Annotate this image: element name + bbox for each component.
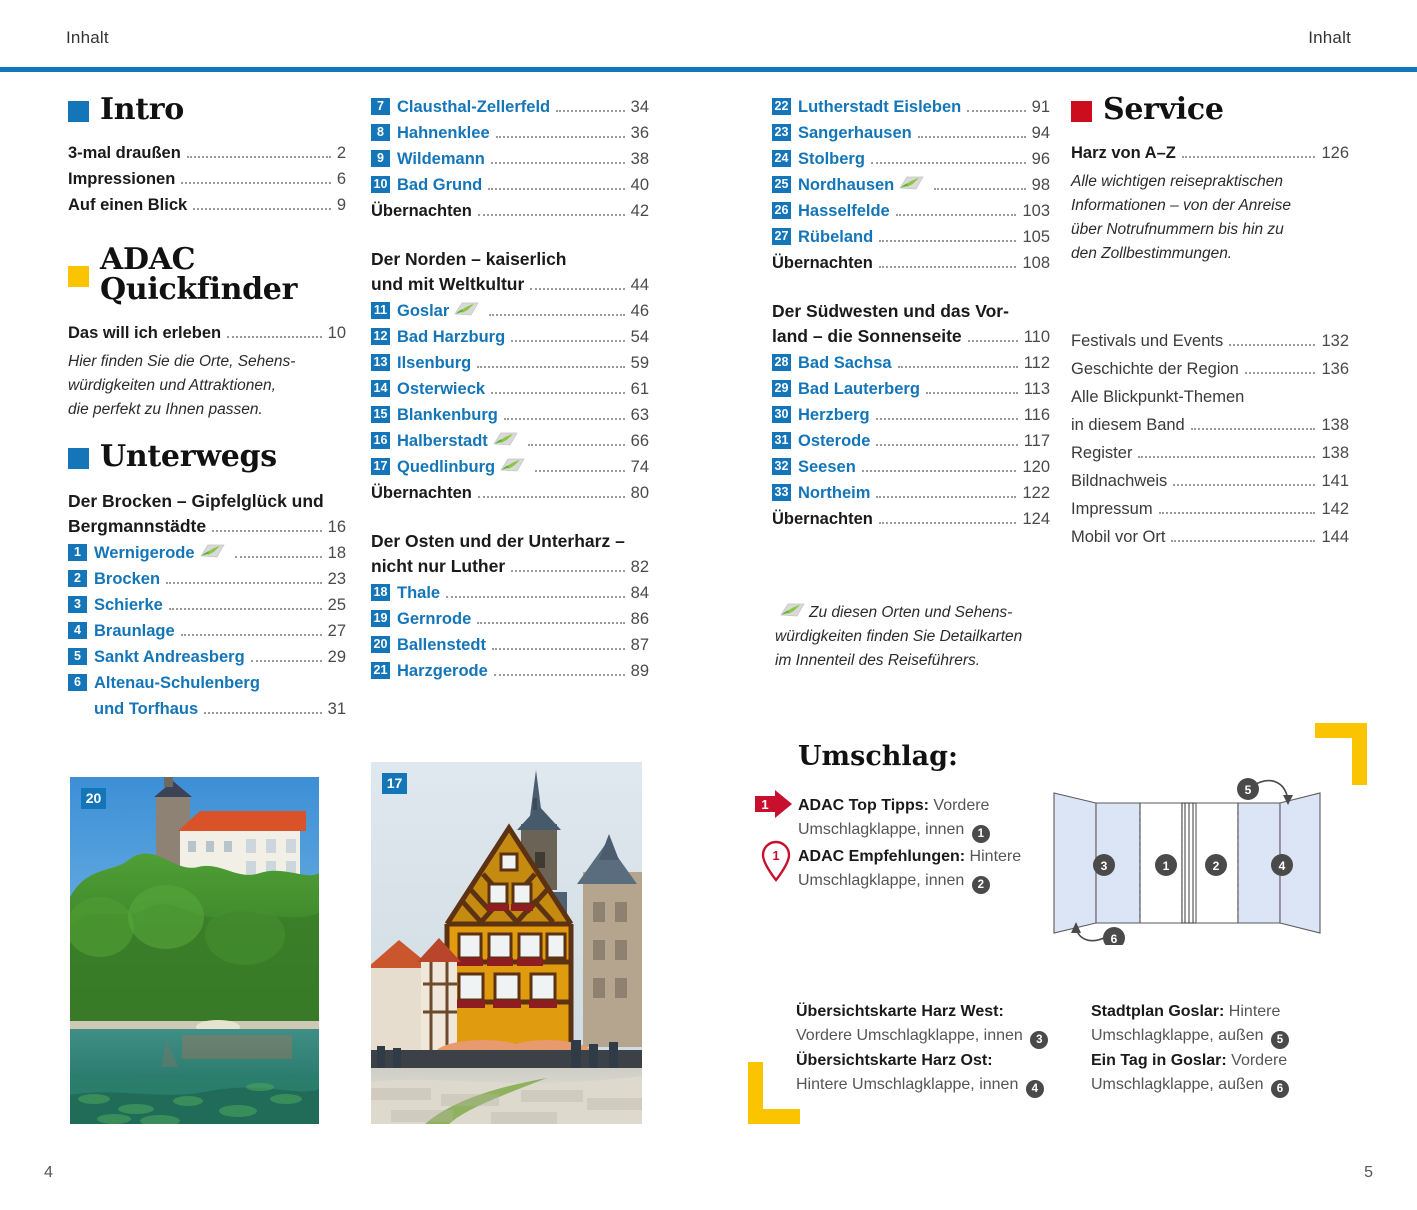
toc-page: 82	[631, 555, 649, 580]
toc-entry-place[interactable]: 4Braunlage27	[68, 619, 346, 644]
toc-label: Northeim	[798, 481, 870, 506]
place-number-badge: 2	[68, 570, 87, 587]
toc-entry-place[interactable]: 17Quedlinburg74	[371, 455, 649, 480]
photo-ballenstedt-image	[70, 777, 319, 1124]
leader-dots	[896, 214, 1017, 216]
leader-dots	[187, 156, 331, 158]
red-arrow-marker-number: 1	[761, 797, 768, 812]
toc-entry-place[interactable]: 13Ilsenburg59	[371, 351, 649, 376]
umschlag-bottom-notes-left: Übersichtskarte Harz West: Vordere Umsch…	[796, 1000, 1056, 1098]
toc-page: 23	[328, 567, 346, 592]
toc-entry-place[interactable]: 7Clausthal-Zellerfeld34	[371, 95, 649, 120]
red-pin-marker-number: 1	[772, 848, 779, 863]
note-rest: Hintere	[1224, 1003, 1280, 1020]
toc-label: Ballenstedt	[397, 633, 486, 658]
leader-dots	[1138, 456, 1315, 458]
leader-dots	[227, 336, 322, 338]
toc-label: Harzgerode	[397, 659, 488, 684]
map-leaf-icon	[779, 602, 805, 619]
toc-entry-place[interactable]: 14Osterwieck61	[371, 377, 649, 402]
note-circle: 6	[1271, 1080, 1289, 1098]
leader-dots	[967, 110, 1025, 112]
toc-page: 120	[1022, 455, 1050, 480]
toc-page: 46	[631, 299, 649, 324]
leader-dots	[871, 162, 1026, 164]
umschlag-section: Umschlag: ADAC Top Tipps: Vordere Umschl…	[798, 741, 1058, 896]
toc-page: 18	[328, 541, 346, 566]
toc-entry-place[interactable]: 2Brocken23	[68, 567, 346, 592]
toc-page: 9	[337, 193, 346, 218]
place-number-badge: 25	[772, 176, 791, 193]
leader-dots	[918, 136, 1026, 138]
leader-dots	[193, 208, 331, 210]
toc-label: Bad Grund	[397, 173, 482, 198]
leader-dots	[898, 366, 1018, 368]
section-title-service-label: Service	[1103, 95, 1224, 125]
toc-page: 29	[328, 645, 346, 670]
note-line2: Hintere Umschlagklappe, innen	[796, 1076, 1018, 1093]
toc-label: Altenau-Schulenberg	[94, 671, 260, 696]
leader-dots	[251, 660, 322, 662]
photo-badge: 20	[81, 788, 106, 809]
toc-entry[interactable]: Das will ich erleben 10	[68, 321, 346, 346]
toc-label: Übernachten	[371, 199, 472, 224]
toc-page: 103	[1022, 199, 1050, 224]
leader-dots	[169, 608, 322, 610]
toc-page: 116	[1024, 403, 1050, 428]
note-stadtplan-goslar: Stadtplan Goslar: Hintere Umschlagklappe…	[1091, 1000, 1351, 1049]
leader-dots	[235, 556, 322, 558]
leader-dots	[876, 496, 1016, 498]
toc-label: Seesen	[798, 455, 856, 480]
leader-dots	[876, 418, 1018, 420]
leader-dots	[879, 522, 1017, 524]
toc-label: Quedlinburg	[397, 455, 495, 480]
leader-dots	[478, 214, 625, 216]
toc-entry-place[interactable]: 8Hahnenklee36	[371, 121, 649, 146]
toc-label: Blankenburg	[397, 403, 498, 428]
toc-page: 59	[631, 351, 649, 376]
toc-label: Sangerhausen	[798, 121, 912, 146]
group-heading-brocken: Der Brocken – Gipfelglück und	[68, 488, 346, 514]
place-number-badge: 19	[371, 610, 390, 627]
toc-label: nicht nur Luther	[371, 554, 505, 579]
leader-dots	[862, 470, 1017, 472]
toc-entry-place[interactable]: 23Sangerhausen94	[772, 121, 1050, 146]
toc-page: 40	[631, 173, 649, 198]
toc-page: 16	[328, 515, 346, 540]
leader-dots	[968, 340, 1018, 342]
toc-page: 66	[631, 429, 649, 454]
toc-entry-place[interactable]: 22Lutherstadt Eisleben91	[772, 95, 1050, 120]
place-number-badge: 1	[68, 544, 87, 561]
booklet-arrow-badge-6: 6	[1111, 932, 1118, 945]
toc-entry-uebernachten[interactable]: Übernachten 124	[772, 507, 1050, 532]
leader-dots	[511, 340, 624, 342]
leader-dots	[204, 712, 321, 714]
detail-map-note: Zu diesen Orten und Sehens-würdigkeiten …	[775, 600, 1025, 673]
umschlag-row-rest: Hintere	[965, 848, 1021, 865]
toc-page: 122	[1022, 481, 1050, 506]
toc-entry-place-cont[interactable]: und Torfhaus31	[68, 697, 346, 722]
group-heading-norden-line2[interactable]: und mit Weltkultur 44	[371, 272, 649, 298]
toc-page: 112	[1024, 351, 1050, 376]
place-number-badge: 29	[772, 380, 791, 397]
toc-entry[interactable]: Harz von A–Z 126	[1071, 141, 1349, 166]
place-number-badge: 26	[772, 202, 791, 219]
toc-label: 3-mal draußen	[68, 141, 181, 166]
toc-page: 113	[1024, 377, 1050, 402]
section-title-unterwegs-label: Unterwegs	[100, 442, 277, 472]
note-circle: 5	[1271, 1031, 1289, 1049]
photo-quedlinburg: 17	[371, 762, 642, 1124]
leader-dots	[496, 136, 625, 138]
umschlag-row-circle: 2	[972, 876, 990, 894]
toc-entry-place[interactable]: 26Hasselfelde103	[772, 199, 1050, 224]
place-number-badge: 7	[371, 98, 390, 115]
toc-label: und Torfhaus	[94, 697, 198, 722]
toc-entry-place[interactable]: 16Halberstadt66	[371, 429, 649, 454]
place-number-badge: 28	[772, 354, 791, 371]
toc-entry-place[interactable]: 20Ballenstedt87	[371, 633, 649, 658]
booklet-arrow-badge-5: 5	[1245, 783, 1252, 797]
toc-column-3: 22Lutherstadt Eisleben9123Sangerhausen94…	[772, 95, 1050, 533]
toc-label: Gernrode	[397, 607, 471, 632]
toc-entry-service-cont[interactable]: in diesem Band138	[1071, 412, 1349, 439]
place-number-badge: 9	[371, 150, 390, 167]
leader-dots	[492, 648, 625, 650]
umschlag-row-line2: Umschlagklappe, innen	[798, 872, 964, 889]
toc-page: 86	[631, 607, 649, 632]
photo-ballenstedt: 20	[70, 777, 319, 1124]
toc-page: 36	[631, 121, 649, 146]
leader-dots	[511, 570, 624, 572]
leader-dots	[477, 622, 624, 624]
group-heading-norden-line1: Der Norden – kaiserlich	[371, 246, 649, 272]
booklet-panel-badge-2: 2	[1213, 859, 1220, 873]
toc-entry[interactable]: 3-mal draußen 2	[68, 141, 346, 166]
place-number-badge: 22	[772, 98, 791, 115]
note-circle: 3	[1030, 1031, 1048, 1049]
place-list-osten: 18Thale8419Gernrode8620Ballenstedt8721Ha…	[371, 581, 649, 684]
map-leaf-icon	[199, 543, 225, 560]
place-number-badge: 6	[68, 674, 87, 691]
toc-entry-uebernachten[interactable]: Übernachten 80	[371, 481, 649, 506]
umschlag-row-top-tipps: ADAC Top Tipps: Vordere Umschlagklappe, …	[798, 794, 1058, 843]
toc-label: Goslar	[397, 299, 449, 324]
toc-entry-place[interactable]: 28Bad Sachsa112	[772, 351, 1050, 376]
toc-entry-service[interactable]: Festivals und Events132	[1071, 328, 1349, 355]
service-note: Alle wichtigen reisepraktischenInformati…	[1071, 170, 1349, 266]
toc-entry-place[interactable]: 10Bad Grund40	[371, 173, 649, 198]
toc-page: 80	[631, 481, 649, 506]
toc-label: Impressionen	[68, 167, 175, 192]
toc-page: 61	[631, 377, 649, 402]
toc-label: Das will ich erleben	[68, 321, 221, 346]
leader-dots	[556, 110, 625, 112]
leader-dots	[477, 366, 624, 368]
toc-label: land – die Sonnenseite	[772, 324, 962, 349]
group-heading-brocken-line2[interactable]: Bergmannstädte 16	[68, 514, 346, 540]
note-uebersichtskarte-ost: Übersichtskarte Harz Ost: Hintere Umschl…	[796, 1049, 1056, 1098]
toc-page: 27	[328, 619, 346, 644]
toc-entry-place[interactable]: 11Goslar46	[371, 299, 649, 324]
toc-entry-place[interactable]: 21Harzgerode89	[371, 659, 649, 684]
map-leaf-icon	[499, 457, 525, 474]
toc-entry-place[interactable]: 24Stolberg96	[772, 147, 1050, 172]
umschlag-row-circle: 1	[972, 825, 990, 843]
photo-badge: 17	[382, 773, 407, 794]
toc-page: 144	[1321, 524, 1349, 551]
toc-page: 124	[1022, 507, 1050, 532]
place-number-badge: 5	[68, 648, 87, 665]
toc-entry[interactable]: Auf einen Blick 9	[68, 193, 346, 218]
place-list-brocken: 1Wernigerode182Brocken233Schierke254Brau…	[68, 541, 346, 722]
detail-map-note-text: Zu diesen Orten und Sehens-würdigkeiten …	[775, 604, 1022, 669]
toc-label: Bildnachweis	[1071, 468, 1167, 495]
toc-label: Nordhausen	[798, 173, 894, 198]
booklet-panel-badge-3: 3	[1101, 859, 1108, 873]
leader-dots	[876, 444, 1017, 446]
umschlag-row-line2: Umschlagklappe, innen	[798, 821, 964, 838]
toc-page: 105	[1022, 225, 1050, 250]
toc-entry-service[interactable]: Alle Blickpunkt-Themen	[1071, 384, 1349, 411]
toc-label: Lutherstadt Eisleben	[798, 95, 961, 120]
place-number-badge: 14	[371, 380, 390, 397]
toc-column-1: Intro 3-mal draußen 2 Impressionen 6 Auf…	[68, 95, 346, 723]
toc-label: Wernigerode	[94, 541, 195, 566]
umschlag-row-empfehlungen: ADAC Empfehlungen: Hintere Umschlagklapp…	[798, 845, 1058, 894]
toc-page: 136	[1321, 356, 1349, 383]
toc-page: 89	[631, 659, 649, 684]
toc-page: 84	[631, 581, 649, 606]
toc-label: Schierke	[94, 593, 163, 618]
toc-label: Sankt Andreasberg	[94, 645, 245, 670]
yellow-square-icon	[68, 266, 89, 287]
section-title-intro: Intro	[68, 95, 346, 125]
toc-page: 31	[328, 697, 346, 722]
toc-label: Auf einen Blick	[68, 193, 187, 218]
leader-dots	[504, 418, 625, 420]
leader-dots	[166, 582, 322, 584]
toc-entry-place[interactable]: 19Gernrode86	[371, 607, 649, 632]
toc-label: Mobil vor Ort	[1071, 524, 1165, 551]
toc-entry-place[interactable]: 3Schierke25	[68, 593, 346, 618]
running-head-right: Inhalt	[1308, 28, 1351, 48]
booklet-panel-badge-4: 4	[1279, 859, 1286, 873]
toc-label: Stolberg	[798, 147, 865, 172]
toc-label: Festivals und Events	[1071, 328, 1223, 355]
note-circle: 4	[1026, 1080, 1044, 1098]
place-number-badge: 11	[371, 302, 390, 319]
leader-dots	[446, 596, 625, 598]
place-number-badge: 15	[371, 406, 390, 423]
toc-entry-place[interactable]: 6Altenau-Schulenberg	[68, 671, 346, 696]
place-number-badge: 20	[371, 636, 390, 653]
toc-label: Braunlage	[94, 619, 175, 644]
umschlag-row-bold: ADAC Top Tipps:	[798, 797, 929, 814]
photo-quedlinburg-image	[371, 762, 642, 1124]
place-number-badge: 17	[371, 458, 390, 475]
toc-page: 110	[1024, 325, 1050, 350]
leader-dots	[1245, 372, 1316, 374]
toc-page: 25	[328, 593, 346, 618]
toc-page: 74	[631, 455, 649, 480]
toc-label: Register	[1071, 440, 1132, 467]
header-rule	[0, 67, 1417, 72]
toc-label: Geschichte der Region	[1071, 356, 1239, 383]
note-line2: Vordere Umschlagklappe, innen	[796, 1027, 1023, 1044]
toc-label: Bergmannstädte	[68, 514, 206, 539]
running-head-left: Inhalt	[66, 28, 109, 48]
toc-entry[interactable]: Impressionen 6	[68, 167, 346, 192]
group-heading-suedwesten-line2[interactable]: land – die Sonnenseite 110	[772, 324, 1050, 350]
note-bold: Übersichtskarte Harz Ost:	[796, 1052, 993, 1069]
place-list-col3-top: 22Lutherstadt Eisleben9123Sangerhausen94…	[772, 95, 1050, 250]
toc-label: Halberstadt	[397, 429, 488, 454]
toc-entry-place[interactable]: 12Bad Harzburg54	[371, 325, 649, 350]
toc-label: Bad Lauterberg	[798, 377, 920, 402]
toc-page: 38	[631, 147, 649, 172]
blue-square-icon	[68, 448, 89, 469]
toc-label: Alle Blickpunkt-Themen	[1071, 384, 1244, 411]
leader-dots	[181, 634, 322, 636]
toc-entry-place[interactable]: 1Wernigerode18	[68, 541, 346, 566]
leader-dots	[535, 470, 625, 472]
red-square-icon	[1071, 101, 1092, 122]
yellow-corner-bottom-left	[748, 1062, 800, 1124]
toc-label: Rübeland	[798, 225, 873, 250]
note-bold: Stadtplan Goslar:	[1091, 1003, 1224, 1020]
leader-dots	[212, 530, 322, 532]
leader-dots	[528, 444, 625, 446]
group-heading-osten-line1: Der Osten und der Unterharz –	[371, 528, 649, 554]
map-leaf-icon	[453, 301, 479, 318]
toc-entry-uebernachten[interactable]: Übernachten 42	[371, 199, 649, 224]
toc-label: Wildemann	[397, 147, 485, 172]
group-heading-suedwesten-line1: Der Südwesten und das Vor-	[772, 298, 1050, 324]
page-number-right: 5	[1364, 1164, 1373, 1182]
toc-entry-uebernachten[interactable]: Übernachten 108	[772, 251, 1050, 276]
toc-label: und mit Weltkultur	[371, 272, 524, 297]
toc-label: Clausthal-Zellerfeld	[397, 95, 550, 120]
place-list-suedwesten: 28Bad Sachsa11229Bad Lauterberg11330Herz…	[772, 351, 1050, 506]
red-arrow-marker-icon: 1	[755, 789, 793, 828]
toc-entry-service[interactable]: Impressum142	[1071, 496, 1349, 523]
toc-label: Osterode	[798, 429, 870, 454]
blue-square-icon	[68, 101, 89, 122]
toc-page: 44	[631, 273, 649, 298]
toc-entry-place[interactable]: 9Wildemann38	[371, 147, 649, 172]
toc-label: Bad Sachsa	[798, 351, 892, 376]
booklet-diagram: 3 1 2 4 5 6	[1048, 775, 1348, 945]
place-number-badge: 27	[772, 228, 791, 245]
toc-page: 142	[1321, 496, 1349, 523]
place-number-badge: 31	[772, 432, 791, 449]
umschlag-row-rest: Vordere	[929, 797, 989, 814]
toc-page: 132	[1321, 328, 1349, 355]
toc-entry-place[interactable]: 29Bad Lauterberg113	[772, 377, 1050, 402]
leader-dots	[491, 162, 625, 164]
place-number-badge: 21	[371, 662, 390, 679]
umschlag-title: Umschlag:	[798, 741, 1058, 772]
place-list-col2-top: 7Clausthal-Zellerfeld348Hahnenklee369Wil…	[371, 95, 649, 198]
note-bold: Übersichtskarte Harz West:	[796, 1003, 1004, 1020]
toc-entry-service[interactable]: Register138	[1071, 440, 1349, 467]
toc-page: 98	[1032, 173, 1050, 198]
note-line2: Umschlagklappe, außen	[1091, 1027, 1264, 1044]
toc-entry-place[interactable]: 31Osterode117	[772, 429, 1050, 454]
toc-label: Herzberg	[798, 403, 870, 428]
toc-entry-place[interactable]: 32Seesen120	[772, 455, 1050, 480]
place-number-badge: 8	[371, 124, 390, 141]
leader-dots	[1229, 344, 1315, 346]
place-number-badge: 33	[772, 484, 791, 501]
section-title-unterwegs: Unterwegs	[68, 442, 346, 472]
quickfinder-note: Hier finden Sie die Orte, Sehens-würdigk…	[68, 350, 346, 422]
toc-page: 138	[1321, 412, 1349, 439]
toc-entry-place[interactable]: 18Thale84	[371, 581, 649, 606]
leader-dots	[491, 392, 625, 394]
toc-label: Bad Harzburg	[397, 325, 505, 350]
place-number-badge: 30	[772, 406, 791, 423]
leader-dots	[934, 188, 1025, 190]
toc-page: 126	[1321, 141, 1349, 166]
section-title-service: Service	[1071, 95, 1349, 125]
place-list-norden: 11Goslar4612Bad Harzburg5413Ilsenburg591…	[371, 299, 649, 480]
toc-entry-place[interactable]: 33Northeim122	[772, 481, 1050, 506]
toc-page: 2	[337, 141, 346, 166]
leader-dots	[181, 182, 331, 184]
toc-label: Osterwieck	[397, 377, 485, 402]
place-number-badge: 12	[371, 328, 390, 345]
place-number-badge: 3	[68, 596, 87, 613]
place-number-badge: 16	[371, 432, 390, 449]
toc-page: 87	[631, 633, 649, 658]
umschlag-bottom-notes-right: Stadtplan Goslar: Hintere Umschlagklappe…	[1091, 1000, 1351, 1098]
toc-page: 6	[337, 167, 346, 192]
toc-entry-place[interactable]: 15Blankenburg63	[371, 403, 649, 428]
toc-page: 94	[1032, 121, 1050, 146]
place-number-badge: 4	[68, 622, 87, 639]
toc-page: 34	[631, 95, 649, 120]
map-leaf-icon	[898, 175, 924, 192]
toc-column-4: Service Harz von A–Z 126 Alle wichtigen …	[1071, 95, 1349, 552]
toc-label: Impressum	[1071, 496, 1153, 523]
toc-entry-service[interactable]: Geschichte der Region136	[1071, 356, 1349, 383]
toc-label: Übernachten	[772, 507, 873, 532]
toc-entry-place[interactable]: 30Herzberg116	[772, 403, 1050, 428]
toc-entry-place[interactable]: 27Rübeland105	[772, 225, 1050, 250]
group-heading-osten-line2[interactable]: nicht nur Luther 82	[371, 554, 649, 580]
toc-entry-place[interactable]: 5Sankt Andreasberg29	[68, 645, 346, 670]
place-number-badge: 23	[772, 124, 791, 141]
toc-entry-service[interactable]: Bildnachweis141	[1071, 468, 1349, 495]
toc-entry-place[interactable]: 25Nordhausen98	[772, 173, 1050, 198]
toc-page: 117	[1024, 429, 1050, 454]
toc-label: Hasselfelde	[798, 199, 890, 224]
toc-label: in diesem Band	[1071, 412, 1185, 439]
toc-page: 138	[1321, 440, 1349, 467]
leader-dots	[1159, 512, 1316, 514]
toc-page: 54	[631, 325, 649, 350]
leader-dots	[494, 674, 625, 676]
toc-label: Thale	[397, 581, 440, 606]
toc-entry-service[interactable]: Mobil vor Ort144	[1071, 524, 1349, 551]
red-pin-outline-marker-icon: 1	[759, 840, 793, 887]
toc-column-2: 7Clausthal-Zellerfeld348Hahnenklee369Wil…	[371, 95, 649, 685]
booklet-panel-badge-1: 1	[1163, 859, 1170, 873]
